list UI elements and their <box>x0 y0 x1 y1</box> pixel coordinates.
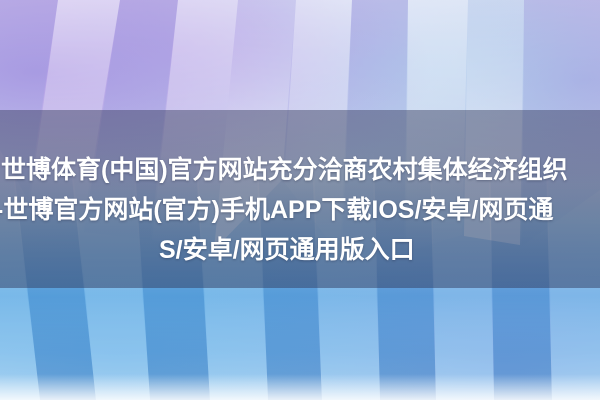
bottom-fade-overlay <box>0 374 600 400</box>
banner-image: 世博体育(中国)官方网站充分洽商农村集体经济组织 -世博官方网站(官方)手机AP… <box>0 0 600 400</box>
headline-line-1: 世博体育(中国)官方网站充分洽商农村集体经济组织 <box>1 150 600 190</box>
headline-line-2: -世博官方网站(官方)手机APP下载IOS/安卓/网页通 <box>0 190 600 230</box>
headline-line-3: S/安卓/网页通用版入口 <box>159 230 600 270</box>
banner-headline: 世博体育(中国)官方网站充分洽商农村集体经济组织 -世博官方网站(官方)手机AP… <box>1 150 600 270</box>
